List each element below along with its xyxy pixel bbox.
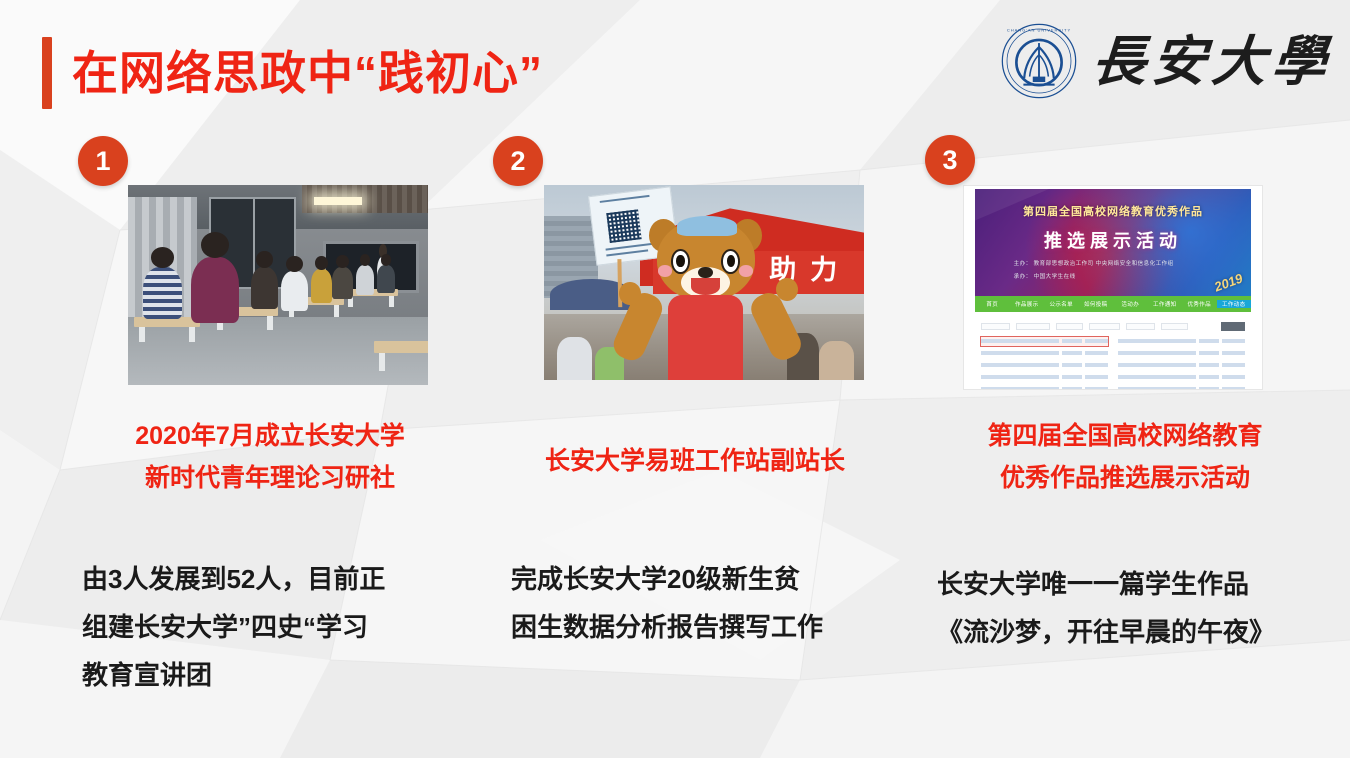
column-1-body-text: 由3人发展到52人，目前正 组建长安大学”四史“学习 教育宣讲团 [82, 555, 482, 699]
caption-line: 新时代青年理论习研社 [60, 457, 480, 499]
body-line: 组建长安大学”四史“学习 [82, 603, 482, 651]
yiban-mascot-photo: 站 助力 [544, 185, 864, 380]
column-2-red-caption: 长安大学易班工作站副站长 [485, 440, 905, 482]
body-line: 困生数据分析报告撰写工作 [511, 603, 911, 651]
university-wordmark: 長安大學 [1090, 34, 1334, 88]
caption-line: 优秀作品推选展示活动 [915, 457, 1335, 499]
competition-website-screenshot: 第四届全国高校网络教育优秀作品 推选展示活动 主办： 教育部思想政治工作司 中央… [963, 185, 1263, 390]
caption-line: 第四届全国高校网络教育 [915, 415, 1335, 457]
body-line: 长安大学唯一一篇学生作品 [937, 560, 1347, 608]
step-badge-2: 2 [493, 136, 543, 186]
column-1-red-caption: 2020年7月成立长安大学 新时代青年理论习研社 [60, 415, 480, 499]
body-line: 《流沙梦，开往早晨的午夜》 [937, 608, 1347, 656]
page-title: 在网络思政中“践初心” [72, 38, 543, 108]
step-badge-1: 1 [78, 136, 128, 186]
classroom-lecture-photo [128, 185, 428, 385]
column-2-body-text: 完成长安大学20级新生贫 困生数据分析报告撰写工作 [511, 555, 911, 651]
column-3-red-caption: 第四届全国高校网络教育 优秀作品推选展示活动 [915, 415, 1335, 499]
title-accent-bar [42, 37, 52, 109]
body-line: 完成长安大学20级新生贫 [511, 555, 911, 603]
step-badge-3: 3 [925, 135, 975, 185]
svg-text:CHANG'AN UNIVERSITY: CHANG'AN UNIVERSITY [1007, 27, 1071, 32]
caption-line: 2020年7月成立长安大学 [60, 415, 480, 457]
column-3-body-text: 长安大学唯一一篇学生作品 《流沙梦，开往早晨的午夜》 [937, 560, 1347, 656]
university-emblem-icon: CHANG'AN UNIVERSITY [1000, 22, 1078, 100]
university-logo: CHANG'AN UNIVERSITY 長安大學 [1000, 16, 1332, 106]
body-line: 由3人发展到52人，目前正 [82, 555, 482, 603]
presentation-slide: 在网络思政中“践初心” CHANG'AN UNIVERSITY 長安大學 1 [0, 0, 1350, 758]
body-line: 教育宣讲团 [82, 651, 482, 699]
caption-line: 长安大学易班工作站副站长 [485, 440, 905, 482]
